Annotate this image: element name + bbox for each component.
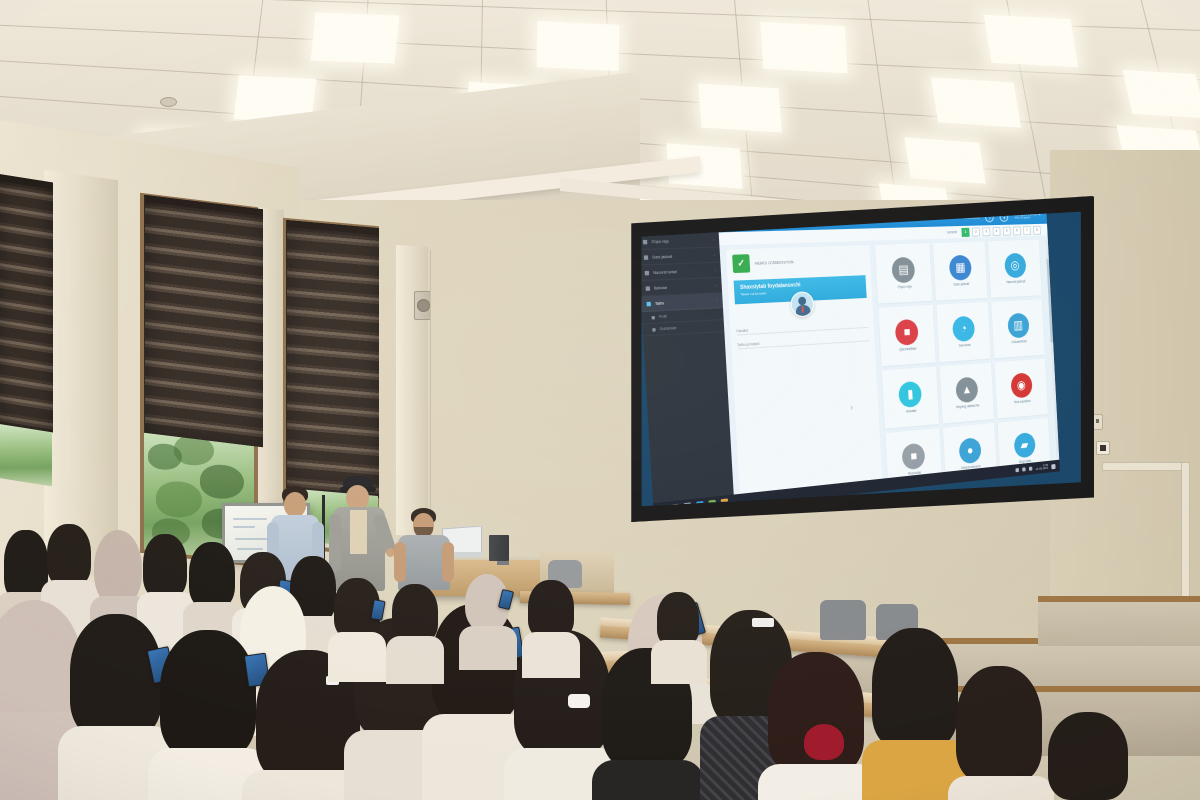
shirt-underlayer (350, 510, 367, 554)
ceiling-smoke-detector (160, 97, 177, 107)
student-audience-member (524, 580, 578, 678)
chevron-right-icon: › (716, 298, 717, 302)
hair (1048, 712, 1128, 800)
chevron-right-icon: › (715, 283, 716, 287)
hemis-student-portal[interactable]: HEMIS Student student.hemis.uz/dashboa (638, 208, 1060, 508)
pager-page-1[interactable]: 1 (961, 227, 969, 236)
field-label: Ta'lim yo'nalishi (737, 342, 759, 348)
ceiling-light-panel (698, 83, 781, 132)
tile-label: Davomat (959, 344, 971, 349)
ceiling-light-panel (984, 15, 1078, 68)
hair (160, 630, 256, 758)
semester-label: semestr (947, 230, 957, 234)
hair (392, 584, 438, 642)
chevron-right-icon: › (713, 237, 714, 241)
pager-page-7[interactable]: 7 (1023, 226, 1031, 235)
student-audience-member (760, 652, 878, 800)
tile-label: Reyting daftarcha (956, 404, 979, 410)
cable-conduit-horizontal (1102, 462, 1190, 471)
tile-nazorat-jadvali[interactable]: ◎ Nazorat jadvali (988, 240, 1041, 298)
chair-back (820, 600, 866, 640)
tile-oquv-reja[interactable]: ▤ O'quv reja (875, 243, 932, 303)
tile-davomat[interactable]: ◔ Davomat (936, 302, 991, 362)
tile-label: Test savollari (1014, 400, 1031, 405)
window-blind (286, 220, 379, 498)
avatar-tie (801, 306, 803, 312)
student-audience-member (330, 578, 384, 682)
wall-pilaster (44, 170, 118, 580)
hair (70, 614, 162, 738)
box-icon: ■ (902, 442, 926, 470)
chevron-right-icon: › (714, 268, 715, 272)
logo-row: ✓ HEMIS O'ZBEKISTON (726, 245, 871, 279)
hair (47, 524, 91, 586)
ceiling-light-panel (931, 77, 1021, 127)
medal-icon: ◎ (1004, 252, 1026, 277)
sidebar-item-label: Dars jadvali (652, 254, 672, 259)
wall-pilaster (396, 245, 428, 537)
pc-tower (489, 535, 509, 561)
student-audience-member (388, 584, 442, 684)
hair (189, 542, 235, 608)
forward-arrow-icon[interactable] (645, 210, 649, 214)
tile-label: O'zlashtirish (1011, 340, 1027, 345)
ceiling-light-panel (760, 22, 848, 73)
tile-label: Qarzdorliklar (899, 347, 917, 352)
torso (328, 632, 386, 682)
head (284, 492, 306, 517)
hair (528, 580, 574, 638)
tile-test-savollari[interactable]: ◉ Test savollari (995, 359, 1048, 419)
wall-socket[interactable] (1096, 441, 1110, 455)
grid-icon (646, 301, 651, 306)
torso (592, 760, 704, 800)
chevron-right-icon: › (714, 253, 715, 257)
hemis-logo-icon: ✓ (732, 254, 750, 273)
lecture-hall-photo: HEMIS Student student.hemis.uz/dashboa (0, 0, 1200, 800)
tile-arizalar[interactable]: ▮ Arizalar (882, 367, 939, 429)
arm-left (394, 542, 406, 582)
pager-page-3[interactable]: 3 (982, 227, 990, 236)
sidebar-item-label: Baholar (654, 285, 667, 290)
alert-icon: ■ (895, 319, 919, 346)
cable-conduit-vertical (1181, 462, 1190, 614)
hair (657, 592, 699, 646)
hair-bow (804, 724, 844, 760)
volume-icon[interactable] (1022, 467, 1026, 471)
network-icon[interactable] (1015, 468, 1019, 472)
calendar-icon (644, 255, 649, 260)
field-label: Fakultet (736, 328, 748, 333)
back-arrow-icon[interactable] (639, 210, 643, 214)
tile-reyting-daftarcha[interactable]: ▲ Reyting daftarcha (939, 362, 994, 423)
student-profile-panel: ✓ HEMIS O'ZBEKISTON Shaxsiylab foydalanu… (726, 245, 883, 500)
notification-icon[interactable] (1051, 464, 1055, 469)
arm-right (442, 542, 454, 582)
sidebar-item-label: Sozlamalar (660, 326, 677, 331)
target-icon: ◉ (1010, 372, 1032, 398)
system-tray[interactable]: 9:39 12.05.2023 (1015, 463, 1055, 474)
flag-icon: ▰ (1013, 432, 1035, 459)
sidebar-item-label: Talim (655, 301, 664, 306)
student-audience-member (462, 574, 514, 670)
hair (872, 628, 958, 748)
wall-display[interactable]: HEMIS Student student.hemis.uz/dashboa (628, 196, 1094, 522)
pager-page-2[interactable]: 2 (972, 227, 980, 236)
hair-clip (752, 618, 774, 627)
info-icon: ● (959, 437, 982, 464)
calendar-icon: ▦ (949, 254, 972, 280)
clock-date: 12.05.2023 (1036, 466, 1049, 471)
pager-page-4[interactable]: 4 (992, 226, 1000, 235)
dashboard-tile-grid[interactable]: ▤ O'quv reja ▦ Dars jadvali ◎ Nazorat ja… (875, 239, 1055, 490)
gear-icon (652, 328, 655, 331)
window-blind (0, 173, 53, 432)
hair-clip (568, 694, 590, 708)
ceiling-light-panel (311, 13, 400, 64)
student-audience-member (654, 592, 704, 684)
doc-icon: ▮ (898, 380, 922, 407)
pager-page-6[interactable]: 6 (1013, 226, 1021, 235)
torso (522, 632, 580, 678)
student-audience-member (948, 666, 1052, 800)
wall-conduit (430, 250, 436, 550)
tile-ozlashtirish[interactable]: ▥ O'zlashtirish (992, 299, 1045, 358)
monitor-stand (497, 561, 509, 565)
sidebar-item-label: Profil (659, 314, 667, 319)
step-nosing (1038, 596, 1200, 602)
chart-icon (646, 286, 651, 291)
tile-dars-jadvali[interactable]: ▦ Dars jadvali (933, 241, 988, 300)
pager-page-5[interactable]: 5 (1003, 226, 1011, 235)
ceiling-light-panel (904, 137, 985, 183)
hijab (94, 530, 142, 606)
user-role: 4411-21-guruh (1014, 216, 1041, 220)
calculator-icon: ▥ (1007, 312, 1029, 338)
book-icon: ▤ (892, 256, 916, 282)
sidebar-item-label: O'quv reja (651, 239, 668, 244)
battery-icon[interactable] (1029, 467, 1033, 471)
hair (956, 666, 1042, 782)
torso (386, 636, 444, 684)
user-icon (652, 315, 655, 318)
folder-icon: ▲ (955, 376, 978, 403)
window-blind (144, 195, 263, 448)
smartphone[interactable] (370, 599, 385, 621)
tile-label: Dars jadvali (953, 283, 969, 287)
ceiling-light-panel (537, 21, 620, 71)
clock-icon: ◔ (952, 315, 975, 341)
chevron-right-icon[interactable]: › (850, 402, 853, 413)
presenter-seated (396, 508, 454, 590)
sidebar-item-label: Nazorat turlari (653, 269, 677, 274)
clipboard-icon (645, 270, 650, 275)
book-icon (643, 239, 648, 244)
display-screen[interactable]: HEMIS Student student.hemis.uz/dashboa (638, 208, 1084, 508)
tile-label: Arizalar (906, 409, 917, 414)
student-audience-member (1042, 712, 1138, 800)
window-glass (0, 424, 52, 487)
tile-qarzdorliklar[interactable]: ■ Qarzdorliklar (878, 305, 935, 366)
tile-label: O'quv reja (898, 285, 912, 289)
app-sidebar[interactable]: O'quv reja › Dars jadvali › Nazorat turl… (638, 232, 734, 508)
hair (143, 534, 187, 598)
torso (948, 776, 1054, 800)
logo-text: HEMIS O'ZBEKISTON (755, 260, 794, 266)
torso (651, 640, 707, 684)
pager-page-8[interactable]: 8 (1033, 225, 1041, 234)
avatar[interactable] (790, 291, 815, 317)
url-text: student.hemis.uz/dashboard (657, 209, 697, 214)
taskbar-clock[interactable]: 9:39 12.05.2023 (1035, 464, 1048, 472)
torso (459, 626, 517, 670)
step-face (1038, 600, 1200, 646)
tile-label: Nazorat jadvali (1006, 280, 1025, 285)
ceiling-light-panel (1122, 70, 1200, 118)
